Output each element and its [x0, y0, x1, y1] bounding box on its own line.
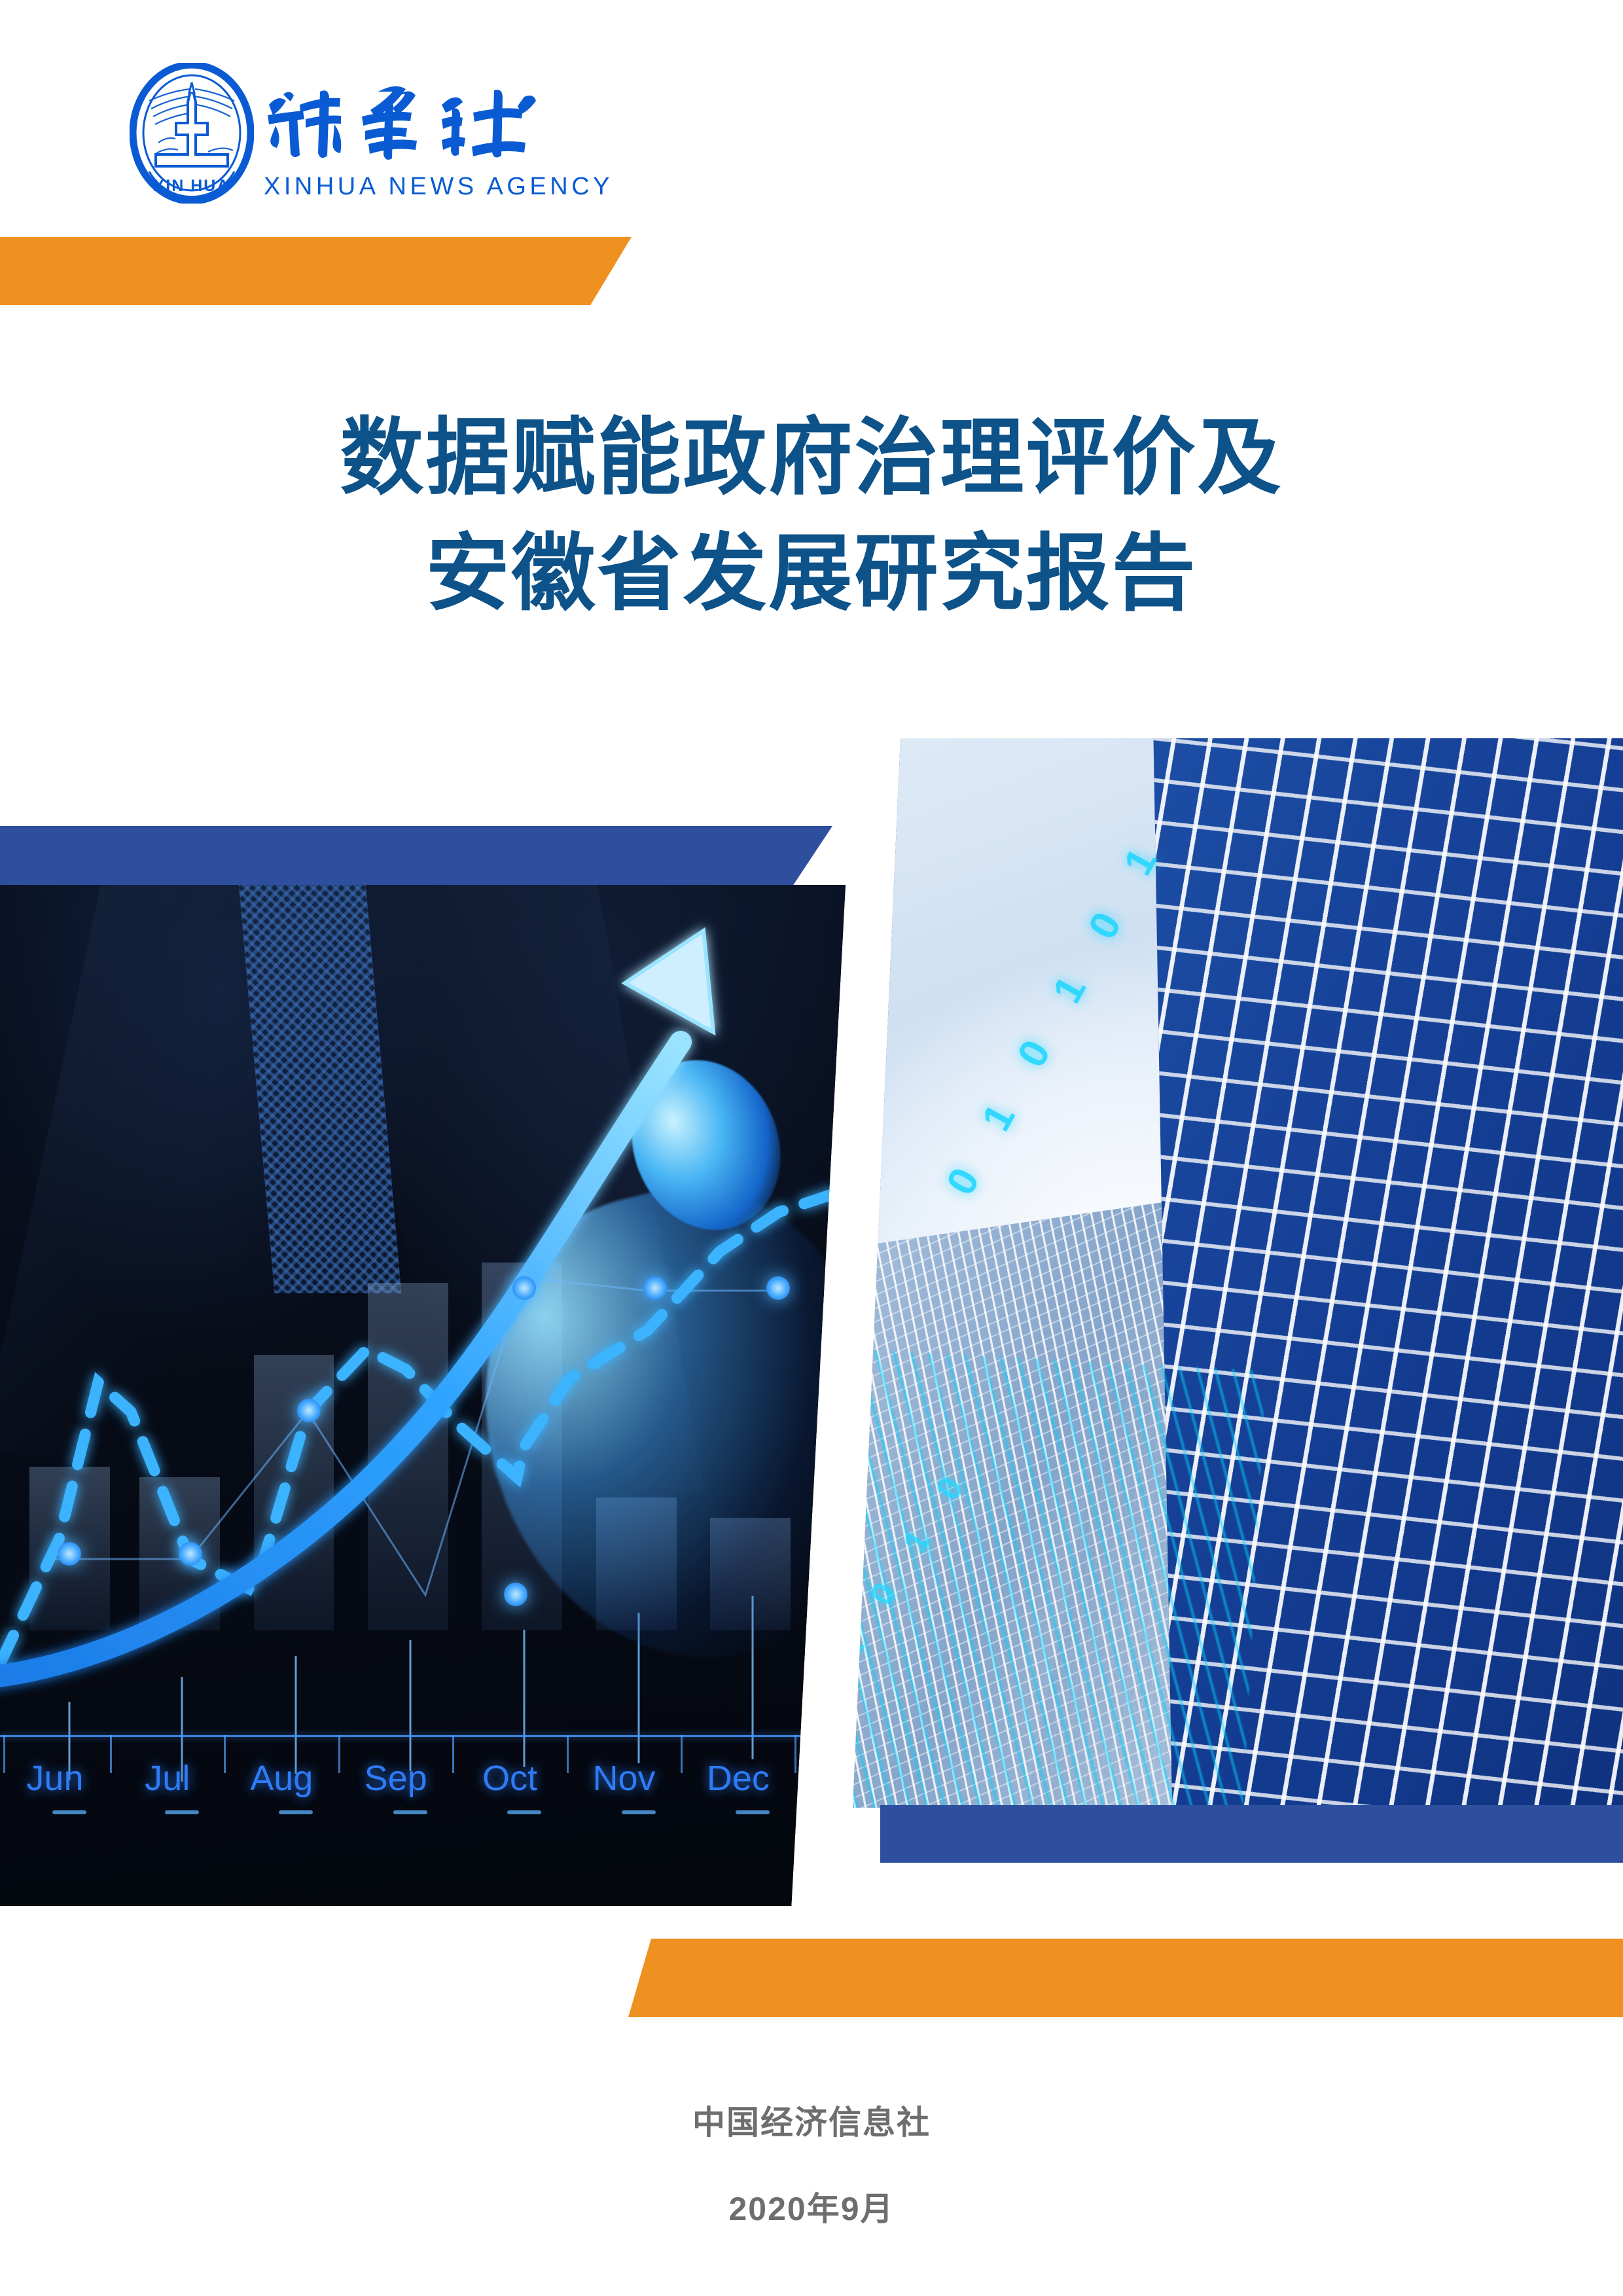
- orange-accent-banner-bottom: [628, 1939, 1623, 2017]
- page-title-line-1: 数据赋能政府治理评价及: [0, 401, 1623, 516]
- month-label-dec: Dec: [707, 1758, 770, 1799]
- xinhua-chinese-wordmark: [264, 75, 539, 166]
- month-label-nov: Nov: [592, 1758, 655, 1799]
- data-point-6: [643, 1276, 667, 1300]
- footer: 中国经济信息社 2020年9月: [0, 2106, 1623, 2225]
- month-label-oct: Oct: [482, 1758, 537, 1799]
- data-point-7: [766, 1276, 790, 1300]
- skyscraper-binary-photo: 0 1 0 1 0 1 1 0 1 0: [853, 738, 1623, 1808]
- data-point-2: [179, 1542, 202, 1566]
- data-point-1: [58, 1542, 81, 1566]
- xinhua-english-name: XINHUA NEWS AGENCY: [264, 173, 542, 201]
- chart-vector-overlay: [0, 885, 846, 1906]
- month-label-sep: Sep: [365, 1758, 427, 1799]
- publication-date: 2020年9月: [0, 2193, 1623, 2225]
- business-analytics-photo: Jun Jul Aug Sep Oct Nov Dec: [0, 885, 846, 1906]
- data-point-3: [297, 1399, 321, 1422]
- page-title: 数据赋能政府治理评价及 安徽省发展研究报告: [0, 401, 1623, 632]
- blue-accent-banner-lower-right: [880, 1805, 1623, 1863]
- publisher-name: 中国经济信息社: [0, 2106, 1623, 2139]
- svg-text:XIN HUA: XIN HUA: [154, 177, 230, 195]
- blue-accent-banner-upper-left: [0, 826, 832, 886]
- xinhua-globe-pagoda-emblem: XIN HUA: [130, 63, 254, 204]
- month-label-aug: Aug: [250, 1758, 313, 1799]
- month-axis-labels: Jun Jul Aug Sep Oct Nov Dec: [0, 1758, 846, 1810]
- data-point-4: [504, 1583, 527, 1606]
- page-title-line-2: 安徽省发展研究报告: [0, 516, 1623, 632]
- chart-axis-line: [0, 1735, 846, 1737]
- xinhua-logo: XIN HUA: [130, 63, 548, 213]
- month-label-jun: Jun: [26, 1758, 83, 1799]
- data-point-5: [512, 1276, 536, 1300]
- month-label-jul: Jul: [145, 1758, 190, 1799]
- orange-accent-banner-top: [0, 237, 632, 305]
